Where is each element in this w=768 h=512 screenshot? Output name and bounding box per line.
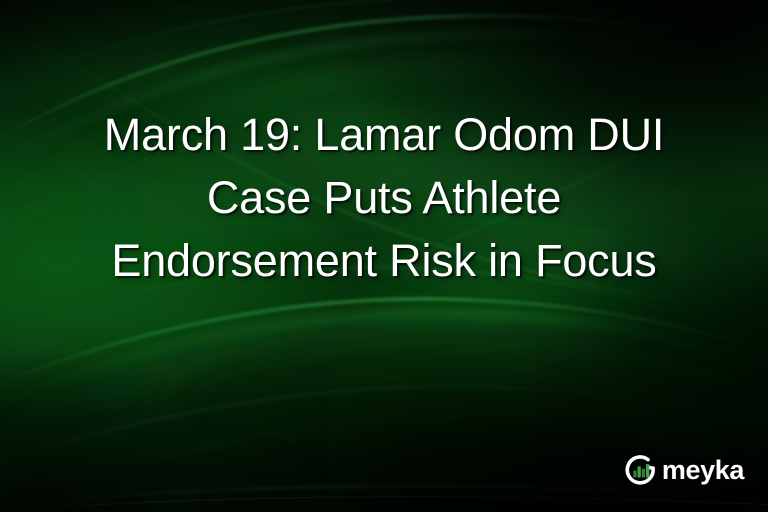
logo-wordmark: meyka: [662, 457, 744, 484]
headline-line-1: March 19: Lamar Odom DUI: [28, 103, 740, 166]
circular-bar-chart-logo-icon: [624, 453, 657, 486]
meyka-logo[interactable]: meyka: [624, 453, 744, 486]
headline-line-3: Endorsement Risk in Focus: [28, 229, 740, 292]
headline-line-2: Case Puts Athlete: [28, 166, 740, 229]
banner-card: March 19: Lamar Odom DUI Case Puts Athle…: [0, 0, 768, 512]
headline: March 19: Lamar Odom DUI Case Puts Athle…: [0, 103, 768, 292]
